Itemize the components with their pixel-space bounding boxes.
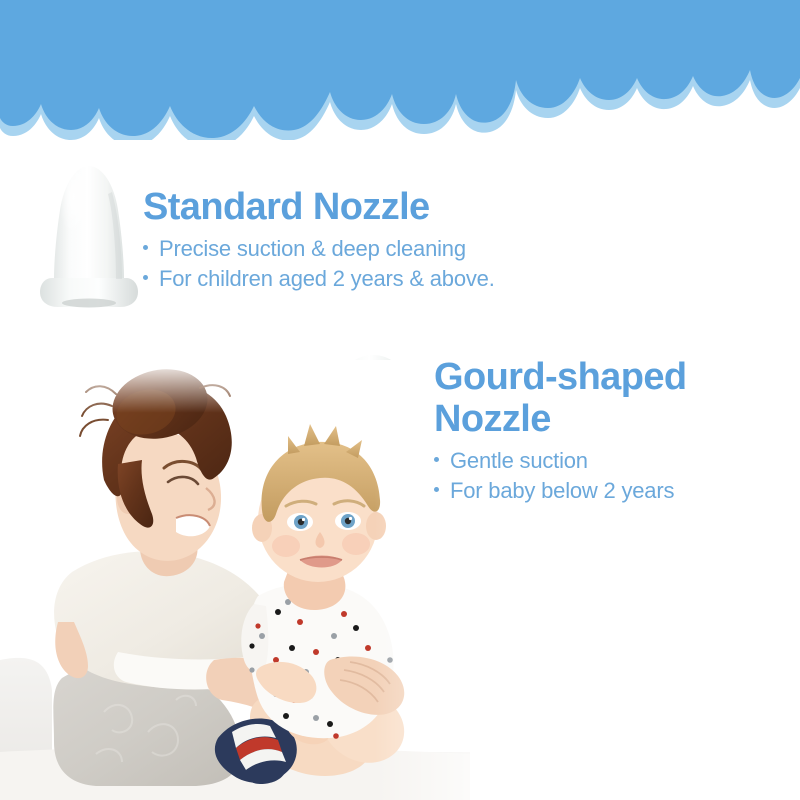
- bullet-text: Precise suction & deep cleaning: [159, 234, 466, 264]
- product-infographic: Standard Nozzle Precise suction & deep c…: [0, 0, 800, 800]
- gourd-nozzle-heading: Gourd-shaped Nozzle: [434, 356, 764, 440]
- list-item: Gentle suction: [434, 446, 764, 476]
- bullet-dot-icon: [143, 275, 148, 280]
- standard-nozzle-heading: Standard Nozzle: [143, 186, 495, 228]
- gourd-nozzle-bullet-list: Gentle suction For baby below 2 years: [434, 446, 764, 506]
- bullet-text: Gentle suction: [450, 446, 588, 476]
- gourd-nozzle-text-block: Gourd-shaped Nozzle Gentle suction For b…: [434, 356, 764, 506]
- nozzle-highlight: [61, 172, 95, 256]
- bullet-dot-icon: [434, 457, 439, 462]
- list-item: For children aged 2 years & above.: [143, 264, 495, 294]
- scalloped-cloud-banner: [0, 0, 800, 140]
- standard-nozzle-text-block: Standard Nozzle Precise suction & deep c…: [143, 186, 495, 294]
- nozzle-base-opening: [62, 299, 116, 308]
- list-item: For baby below 2 years: [434, 476, 764, 506]
- bullet-dot-icon: [434, 487, 439, 492]
- bullet-text: For baby below 2 years: [450, 476, 674, 506]
- standard-nozzle-bullet-list: Precise suction & deep cleaning For chil…: [143, 234, 495, 294]
- bullet-text: For children aged 2 years & above.: [159, 264, 495, 294]
- standard-nozzle-image: [34, 162, 144, 312]
- list-item: Precise suction & deep cleaning: [143, 234, 495, 264]
- bullet-dot-icon: [143, 245, 148, 250]
